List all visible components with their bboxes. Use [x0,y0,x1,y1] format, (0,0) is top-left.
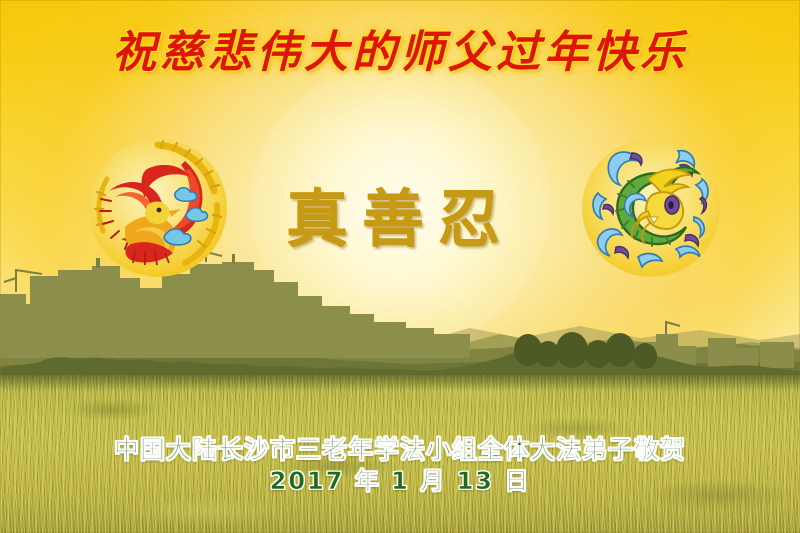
center-motto: 真善忍 [0,168,800,258]
credit-organization: 中国大陆长沙市三老年学法小组全体大法弟子敬贺 [0,435,800,465]
tree-line-silhouette [0,328,800,380]
credit-date: 2017 年 1 月 13 日 [0,465,800,497]
credit-block: 中国大陆长沙市三老年学法小组全体大法弟子敬贺 2017 年 1 月 13 日 [0,435,800,497]
rice-field-edge-shadow [0,375,800,391]
page-title: 祝慈悲伟大的师父过年快乐 [0,16,800,80]
greeting-card: 祝慈悲伟大的师父过年快乐 真善忍 中国大陆长沙市三老年学法小组全体大法弟子敬贺 … [0,0,800,533]
